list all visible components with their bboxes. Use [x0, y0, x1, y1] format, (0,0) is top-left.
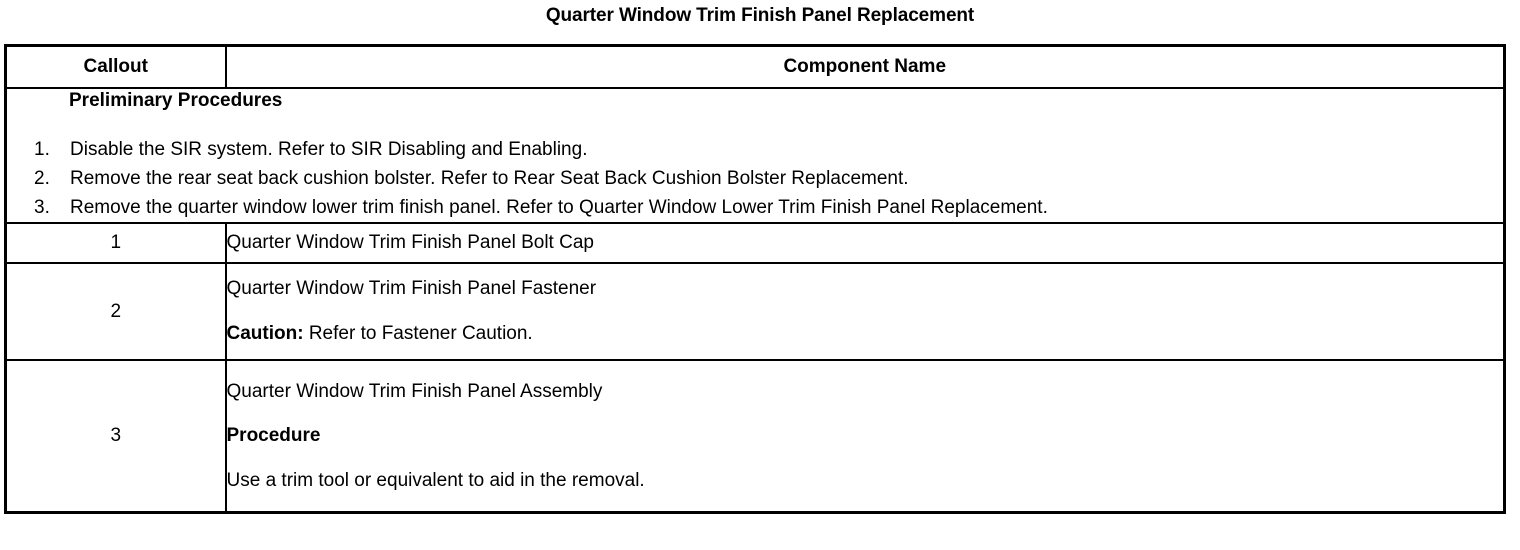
preliminary-procedures-cell: Preliminary Procedures 1.Disable the SIR…: [6, 88, 1505, 223]
component-name-line: Quarter Window Trim Finish Panel Bolt Ca…: [227, 232, 1504, 254]
preliminary-procedures-heading: Preliminary Procedures: [7, 89, 1503, 113]
callout-number: 3: [6, 360, 226, 513]
list-item-text: Remove the quarter window lower trim fin…: [70, 197, 1048, 218]
list-item-number: 2.: [34, 165, 62, 194]
list-item: 3.Remove the quarter window lower trim f…: [7, 194, 1503, 223]
list-item: 2.Remove the rear seat back cushion bols…: [7, 165, 1503, 194]
component-name-cell: Quarter Window Trim Finish Panel Fastene…: [226, 263, 1505, 360]
procedure-heading-line: Procedure: [227, 425, 1504, 447]
procedure-text-line: Use a trim tool or equivalent to aid in …: [227, 470, 1504, 492]
callout-number: 1: [6, 223, 226, 263]
procedure-label: Procedure: [227, 425, 321, 446]
callout-number: 2: [6, 263, 226, 360]
component-name-line: Quarter Window Trim Finish Panel Assembl…: [227, 381, 1504, 403]
preliminary-procedures-row: Preliminary Procedures 1.Disable the SIR…: [6, 88, 1505, 223]
list-item-text: Remove the rear seat back cushion bolste…: [70, 168, 909, 189]
caution-text: Refer to Fastener Caution.: [304, 323, 533, 344]
column-header-callout: Callout: [6, 46, 226, 89]
page-title: Quarter Window Trim Finish Panel Replace…: [0, 0, 1520, 25]
table-row: 3 Quarter Window Trim Finish Panel Assem…: [6, 360, 1505, 513]
list-item-number: 3.: [34, 194, 62, 223]
column-header-component-name: Component Name: [226, 46, 1505, 89]
component-name-text: Quarter Window Trim Finish Panel Assembl…: [227, 381, 603, 402]
component-name-cell: Quarter Window Trim Finish Panel Bolt Ca…: [226, 223, 1505, 263]
list-item-text: Disable the SIR system. Refer to SIR Dis…: [70, 139, 587, 160]
procedure-table: Callout Component Name Preliminary Proce…: [4, 44, 1506, 514]
preliminary-steps-list: 1.Disable the SIR system. Refer to SIR D…: [7, 136, 1503, 223]
list-item-number: 1.: [34, 136, 62, 165]
table-row: 2 Quarter Window Trim Finish Panel Faste…: [6, 263, 1505, 360]
component-name-cell: Quarter Window Trim Finish Panel Assembl…: [226, 360, 1505, 513]
table-row: 1 Quarter Window Trim Finish Panel Bolt …: [6, 223, 1505, 263]
list-item: 1.Disable the SIR system. Refer to SIR D…: [7, 136, 1503, 165]
procedure-text: Use a trim tool or equivalent to aid in …: [227, 470, 645, 491]
component-name-text: Quarter Window Trim Finish Panel Fastene…: [227, 278, 597, 299]
caution-label: Caution:: [227, 323, 304, 344]
component-name-text: Quarter Window Trim Finish Panel Bolt Ca…: [227, 232, 594, 253]
table-header-row: Callout Component Name: [6, 46, 1505, 89]
document-page: Quarter Window Trim Finish Panel Replace…: [0, 0, 1520, 550]
component-name-line: Quarter Window Trim Finish Panel Fastene…: [227, 278, 1504, 300]
caution-note-line: Caution: Refer to Fastener Caution.: [227, 323, 1504, 345]
